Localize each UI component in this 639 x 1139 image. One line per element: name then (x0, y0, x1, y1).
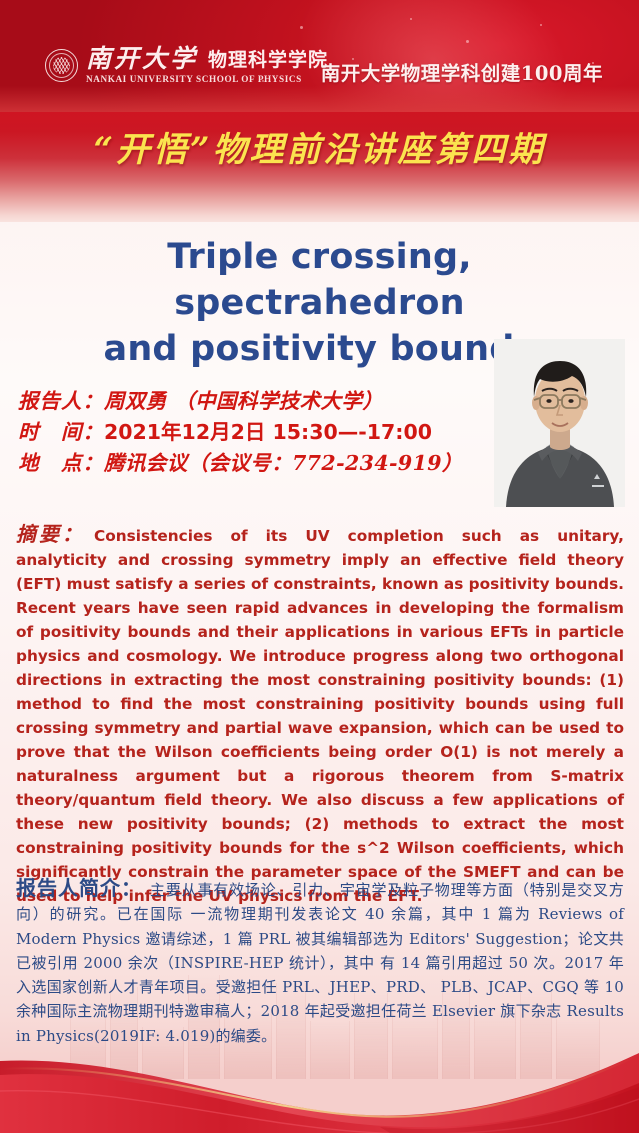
bio-heading: 报告人简介： (16, 878, 142, 898)
anniversary-slogan: 南开大学物理学科创建100周年 (321, 57, 603, 86)
logo-university-name: 南开大学 (86, 46, 198, 71)
university-seal-icon (45, 49, 78, 82)
speaker-label: 报告人： (18, 386, 104, 417)
speaker-bio-section: 报告人简介： 主要从事有效场论、引力、宇宙学及粒子物理等方面（特别是交叉方向）的… (16, 878, 624, 1048)
venue-label: 地 点： (18, 448, 104, 479)
talk-title-line-1: Triple crossing, spectrahedron (18, 234, 621, 326)
venue-value: 腾讯会议（会议号：772-234-919） (104, 448, 463, 479)
university-logo: 南开大学 物理科学学院 NANKAI UNIVERSITY SCHOOL OF … (45, 46, 328, 84)
footer-edge (0, 1133, 639, 1139)
bio-text: 主要从事有效场论、引力、宇宙学及粒子物理等方面（特别是交叉方向）的研究。已在国际… (16, 878, 624, 1048)
bottom-ribbon-decoration (0, 1039, 639, 1139)
logo-text-group: 南开大学 物理科学学院 NANKAI UNIVERSITY SCHOOL OF … (86, 46, 328, 84)
time-value: 2021年12月2日 15:30—-17:00 (104, 417, 432, 448)
time-label: 时 间： (18, 417, 104, 448)
logo-english-name: NANKAI UNIVERSITY SCHOOL OF PHYSICS (86, 75, 328, 84)
abstract-text: Consistencies of its UV completion such … (16, 524, 624, 908)
abstract-section: 摘要： Consistencies of its UV completion s… (16, 524, 624, 908)
seminar-poster: 南开大学 物理科学学院 NANKAI UNIVERSITY SCHOOL OF … (0, 0, 639, 1139)
event-info-block: 报告人： 周双勇 （中国科学技术大学） 时 间： 2021年12月2日 15:3… (18, 386, 488, 479)
info-row-time: 时 间： 2021年12月2日 15:30—-17:00 (18, 417, 488, 448)
info-row-speaker: 报告人： 周双勇 （中国科学技术大学） (18, 386, 488, 417)
speaker-value: 周双勇 （中国科学技术大学） (104, 386, 383, 417)
speaker-portrait-image (494, 339, 625, 507)
speaker-portrait (494, 339, 625, 507)
poster-header: 南开大学 物理科学学院 NANKAI UNIVERSITY SCHOOL OF … (0, 0, 639, 112)
series-title: “开悟”物理前沿讲座第四期 (0, 122, 639, 171)
logo-school-name: 物理科学学院 (208, 51, 328, 71)
abstract-heading: 摘要： (16, 524, 85, 544)
info-row-venue: 地 点： 腾讯会议（会议号：772-234-919） (18, 448, 488, 479)
